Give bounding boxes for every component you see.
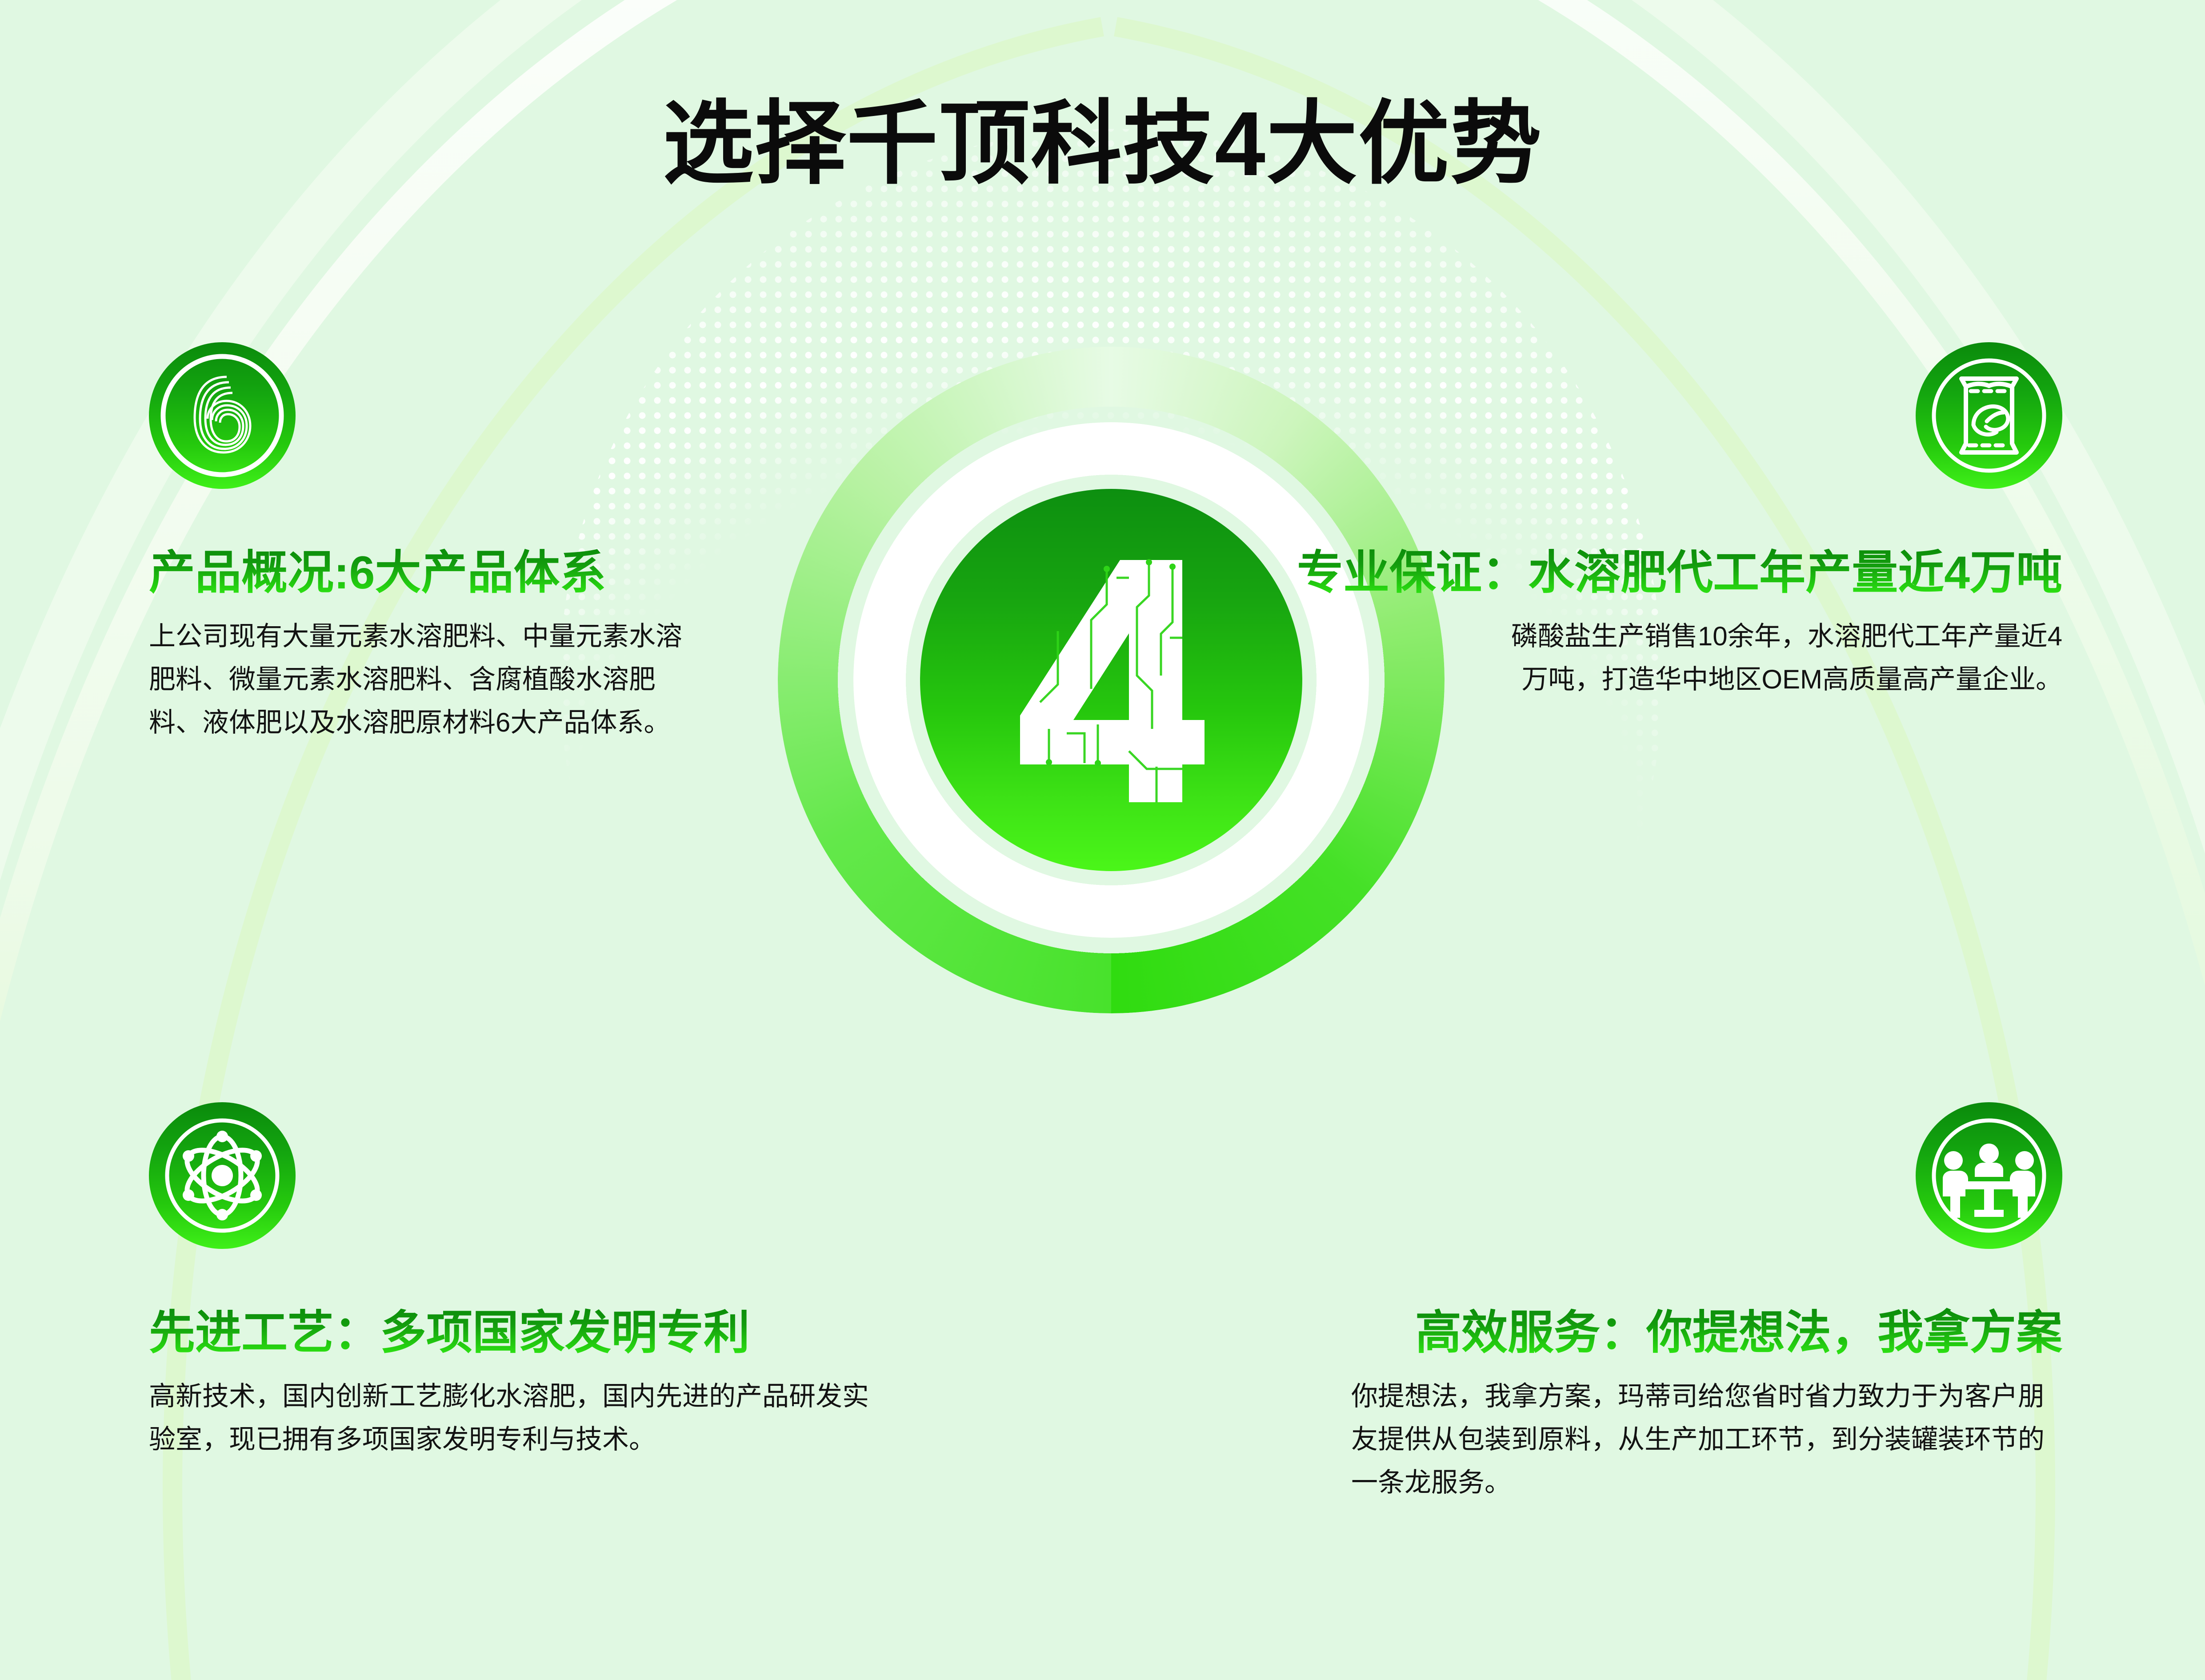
number-six-spiral-icon: [149, 342, 296, 489]
meeting-table-people-icon: [1916, 1102, 2062, 1249]
quadrant-body: 上公司现有大量元素水溶肥料、中量元素水溶肥料、微量元素水溶肥料、含腐植酸水溶肥料…: [149, 615, 702, 744]
quadrant-heading: 产品概况:6大产品体系: [149, 547, 727, 600]
atom-icon: [149, 1102, 296, 1249]
quadrant-body: 你提想法，我拿方案，玛蒂司给您省时省力致力于为客户朋友提供从包装到原料，从生产加…: [1351, 1375, 2062, 1504]
page-title: 选择千顶科技4大优势: [0, 96, 2205, 192]
quadrant-heading: 专业保证：水溶肥代工年产量近4万吨: [1297, 547, 2062, 600]
quadrant-product-overview: 产品概况:6大产品体系 上公司现有大量元素水溶肥料、中量元素水溶肥料、微量元素水…: [149, 342, 727, 744]
quadrant-efficient-service: 高效服务：你提想法，我拿方案 你提想法，我拿方案，玛蒂司给您省时省力致力于为客户…: [1329, 1102, 2062, 1504]
quadrant-body: 磷酸盐生产销售10余年，水溶肥代工年产量近4万吨，打造华中地区OEM高质量高产量…: [1500, 615, 2062, 701]
quadrant-heading: 先进工艺：多项国家发明专利: [149, 1307, 904, 1360]
quadrant-advanced-process: 先进工艺：多项国家发明专利 高新技术，国内创新工艺膨化水溶肥，国内先进的产品研发…: [149, 1102, 904, 1461]
quadrant-heading: 高效服务：你提想法，我拿方案: [1415, 1307, 2062, 1360]
fertilizer-bag-leaf-icon: [1916, 342, 2062, 489]
quadrant-body: 高新技术，国内创新工艺膨化水溶肥，国内先进的产品研发实验室，现已拥有多项国家发明…: [149, 1375, 887, 1461]
quadrant-professional-guarantee: 专业保证：水溶肥代工年产量近4万吨 磷酸盐生产销售10余年，水溶肥代工年产量近4…: [1191, 342, 2062, 701]
infographic-stage: 选择千顶科技4大优势: [0, 0, 2205, 1680]
